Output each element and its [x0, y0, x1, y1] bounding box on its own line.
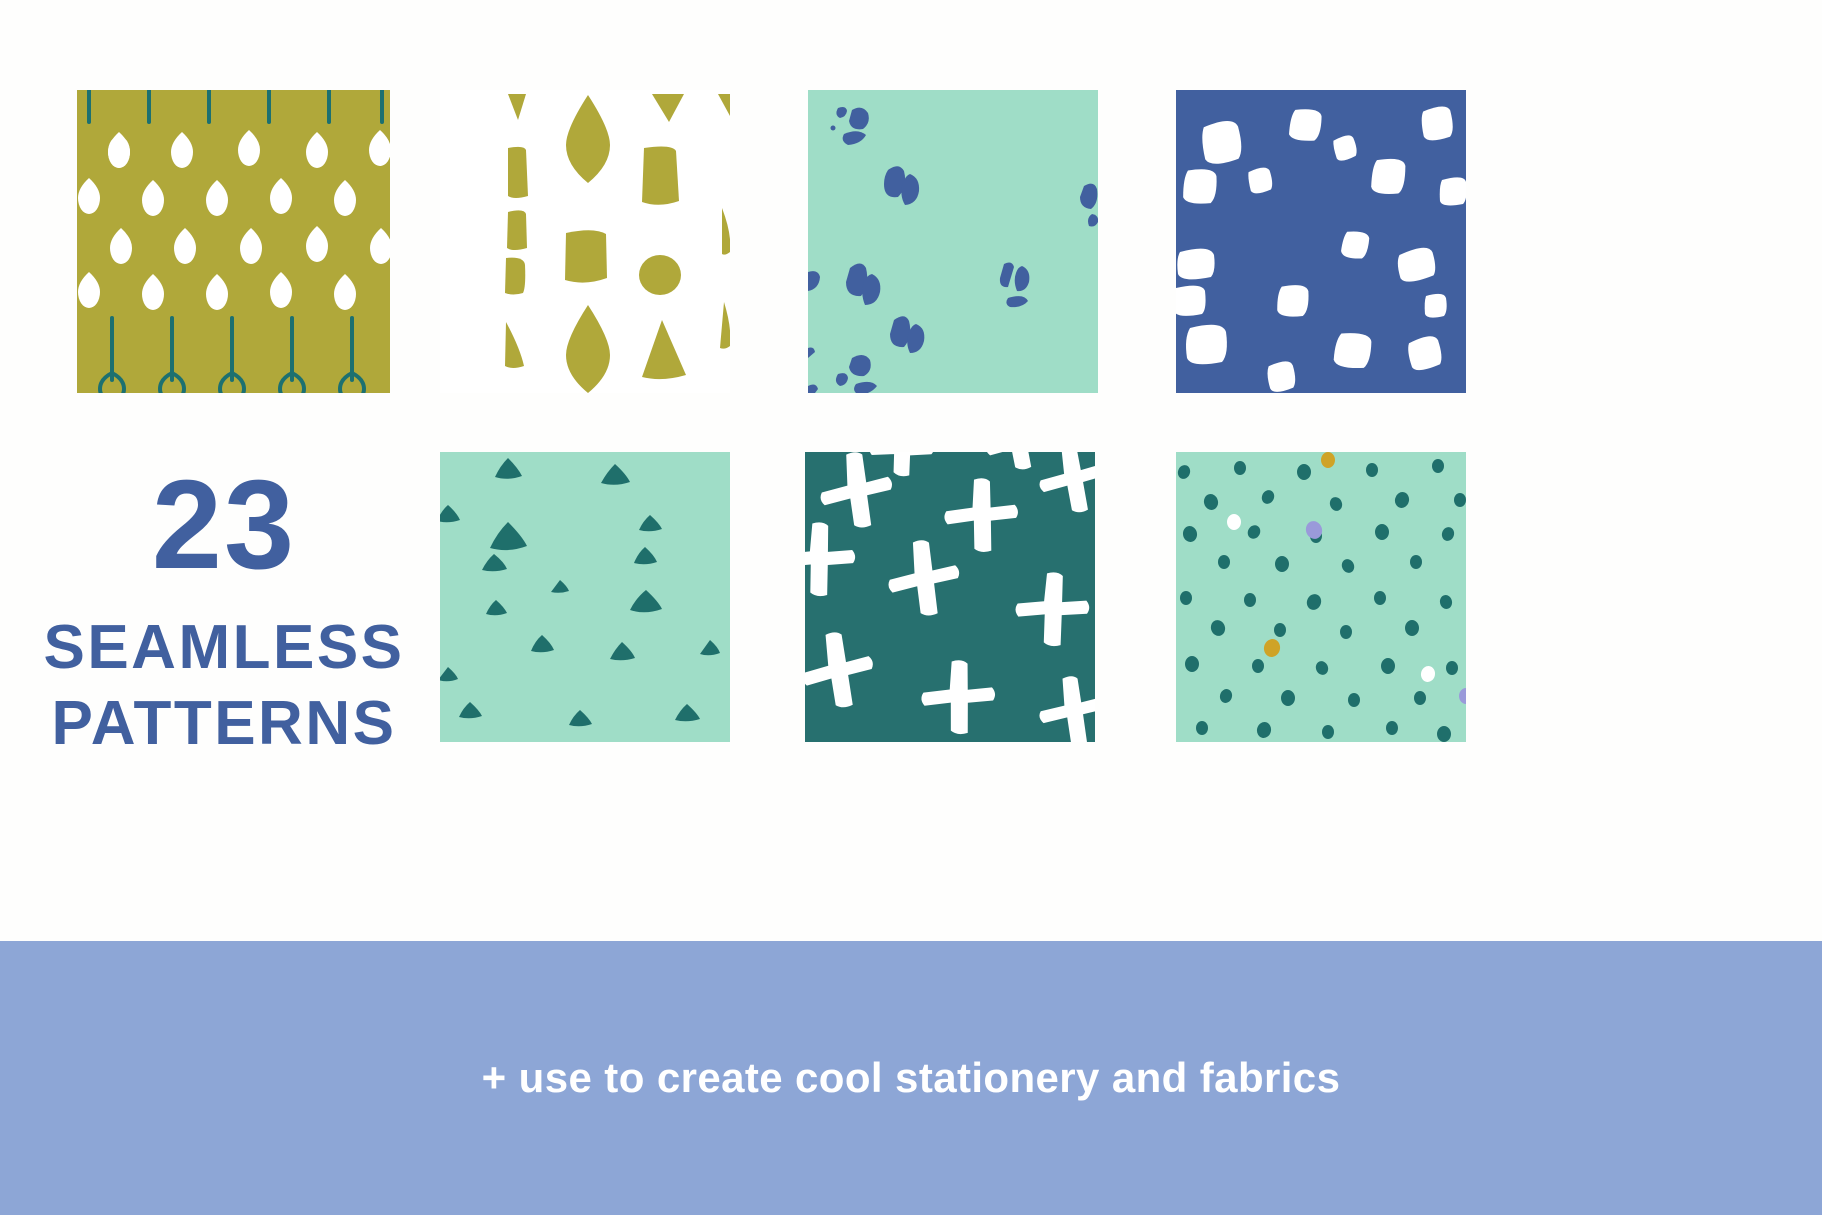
pattern-swatch-white-rects-blue[interactable]: [1176, 90, 1466, 393]
pattern-tile-2-art: [440, 90, 730, 393]
pattern-tile-1-art: [77, 90, 390, 393]
banner-tagline: + use to create cool stationery and fabr…: [482, 1054, 1341, 1102]
pattern-swatch-speckles-mint[interactable]: [1176, 452, 1466, 742]
headline-line-seamless: SEAMLESS: [43, 610, 404, 686]
pattern-swatch-olive-teardrops[interactable]: [77, 90, 390, 393]
pattern-tile-7-art: [1176, 452, 1466, 742]
pattern-tile-5-art: [440, 452, 730, 742]
pattern-swatch-teal-triangles-mint[interactable]: [440, 452, 730, 742]
bottom-banner: + use to create cool stationery and fabr…: [0, 941, 1822, 1215]
pattern-tile-6-art: [805, 452, 1095, 742]
pattern-tile-3-art: [808, 90, 1098, 393]
pattern-swatch-blue-circles-mint[interactable]: [808, 90, 1098, 393]
pattern-grid: 23 SEAMLESS PATTERNS: [0, 0, 1822, 941]
pattern-tile-4-art: [1176, 90, 1466, 393]
product-preview-page: 23 SEAMLESS PATTERNS + use to create coo…: [0, 0, 1822, 1215]
pattern-swatch-olive-geometrics[interactable]: [440, 90, 730, 393]
pattern-count: 23: [152, 452, 296, 588]
headline-line-patterns: PATTERNS: [52, 686, 397, 762]
pattern-swatch-white-crosses-teal[interactable]: [805, 452, 1095, 742]
headline-block: 23 SEAMLESS PATTERNS: [34, 452, 414, 742]
